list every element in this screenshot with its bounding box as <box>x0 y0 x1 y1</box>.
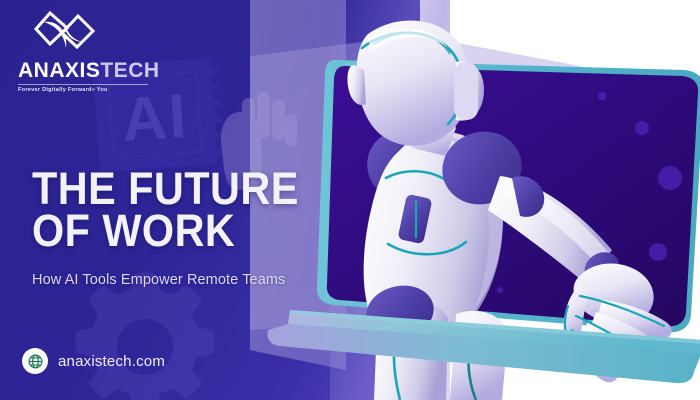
brand-logo[interactable]: ANAXISTECH Forever Digitally Forward» Yo… <box>18 8 148 93</box>
logo-divider <box>18 84 148 85</box>
brand-wordmark: ANAXISTECH <box>18 60 148 81</box>
brand-name-secondary: TECH <box>100 59 159 82</box>
page-title: THE FUTURE OF WORK <box>32 168 336 253</box>
brand-name-primary: ANAXIS <box>18 59 100 82</box>
social-banner: AI <box>0 0 700 400</box>
brand-tagline: Forever Digitally Forward» You <box>18 87 148 93</box>
headline-line-2: OF WORK <box>32 210 336 252</box>
anaxis-diamond-swoosh-logo-icon <box>32 8 98 54</box>
footer[interactable]: anaxistech.com <box>22 348 165 374</box>
globe-icon <box>22 348 48 374</box>
gear-icon <box>70 272 220 400</box>
page-subtitle: How AI Tools Empower Remote Teams <box>32 272 372 288</box>
website-url[interactable]: anaxistech.com <box>58 353 165 370</box>
